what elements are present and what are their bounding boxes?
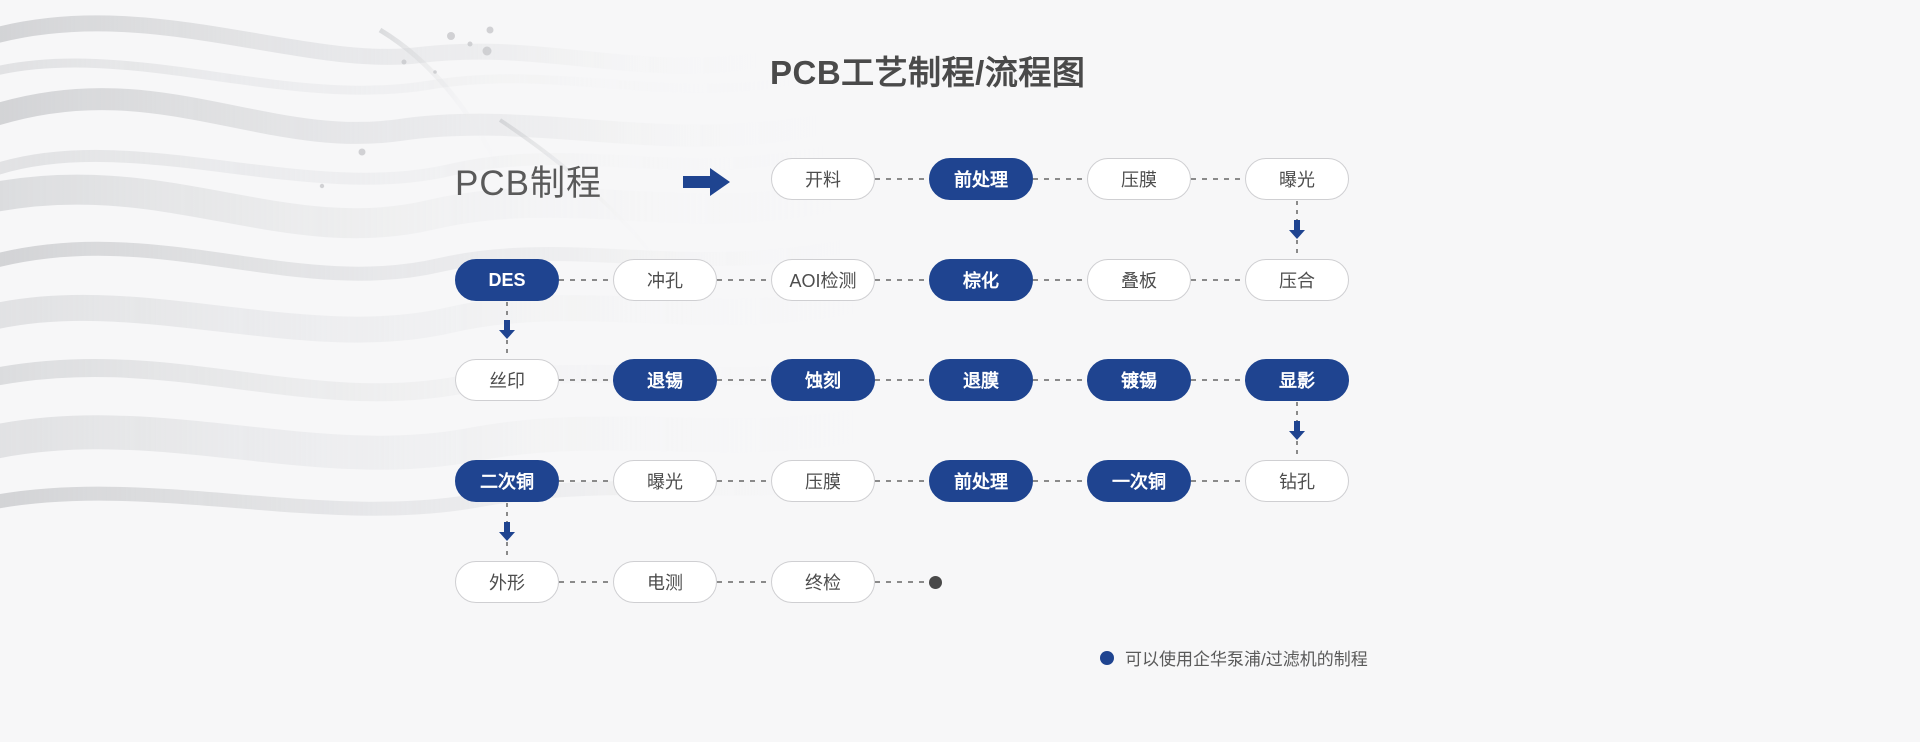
dotted-connector [875, 178, 929, 180]
flow-row: 丝印退锡蚀刻退膜镀锡显影 [455, 358, 1349, 402]
flow-node[interactable]: 一次铜 [1087, 460, 1191, 502]
flow-node[interactable]: 冲孔 [613, 259, 717, 301]
dotted-connector [1191, 178, 1245, 180]
arrow-down-icon [1288, 220, 1306, 240]
vertical-connector [1286, 201, 1308, 258]
flow-node[interactable]: 蚀刻 [771, 359, 875, 401]
dotted-connector [1033, 379, 1087, 381]
flow-node[interactable]: 退膜 [929, 359, 1033, 401]
flow-node[interactable]: 棕化 [929, 259, 1033, 301]
flow-node[interactable]: DES [455, 259, 559, 301]
dotted-connector [506, 542, 508, 561]
dotted-connector [717, 279, 771, 281]
flow-node[interactable]: 电测 [613, 561, 717, 603]
flow-end-dot [929, 576, 942, 589]
flow-node[interactable]: AOI检测 [771, 259, 875, 301]
vertical-connector [496, 503, 518, 560]
dotted-connector [506, 340, 508, 358]
legend-label: 可以使用企华泵浦/过滤机的制程 [1125, 645, 1368, 670]
flow-node[interactable]: 压膜 [771, 460, 875, 502]
dotted-connector [717, 581, 771, 583]
dotted-connector [1033, 178, 1087, 180]
dotted-connector [875, 480, 929, 482]
dotted-connector [1296, 402, 1298, 421]
vertical-connector [1286, 402, 1308, 459]
arrow-down-icon [498, 522, 516, 542]
flow-node[interactable]: 钻孔 [1245, 460, 1349, 502]
flow-node[interactable]: 退锡 [613, 359, 717, 401]
flow-node[interactable]: 叠板 [1087, 259, 1191, 301]
dotted-connector [875, 379, 929, 381]
flow-node[interactable]: 压膜 [1087, 158, 1191, 200]
dotted-connector [1296, 240, 1298, 259]
flow-node[interactable]: 曝光 [1245, 158, 1349, 200]
flow-row: 开料前处理压膜曝光 [771, 157, 1349, 201]
filled-circle-icon [1100, 651, 1114, 665]
dotted-connector [506, 503, 508, 522]
flow-node[interactable]: 显影 [1245, 359, 1349, 401]
flow-node[interactable]: 丝印 [455, 359, 559, 401]
arrow-down-icon [1288, 421, 1306, 441]
dotted-connector [1296, 441, 1298, 460]
flow-node[interactable]: 二次铜 [455, 460, 559, 502]
dotted-connector [717, 480, 771, 482]
flow-row: DES冲孔AOI检测棕化叠板压合 [455, 258, 1349, 302]
flow-row: 二次铜曝光压膜前处理一次铜钻孔 [455, 459, 1349, 503]
dotted-connector [506, 302, 508, 320]
flow-node[interactable]: 前处理 [929, 460, 1033, 502]
flow-node[interactable]: 开料 [771, 158, 875, 200]
dotted-connector [1033, 480, 1087, 482]
flow-node[interactable]: 外形 [455, 561, 559, 603]
dotted-connector [1191, 480, 1245, 482]
dotted-connector [1191, 379, 1245, 381]
dotted-connector [559, 279, 613, 281]
dotted-connector [717, 379, 771, 381]
flow-node[interactable]: 曝光 [613, 460, 717, 502]
vertical-connector [496, 302, 518, 358]
flow-row: 外形电测终检 [455, 560, 942, 604]
dotted-connector [559, 480, 613, 482]
dotted-connector [559, 581, 613, 583]
dotted-connector [1296, 201, 1298, 220]
dotted-connector [559, 379, 613, 381]
arrow-right-icon [683, 167, 731, 197]
flow-node[interactable]: 前处理 [929, 158, 1033, 200]
flow-node[interactable]: 终检 [771, 561, 875, 603]
flow-node[interactable]: 镀锡 [1087, 359, 1191, 401]
section-label: PCB制程 [455, 155, 602, 206]
page-title: PCB工艺制程/流程图 [770, 46, 1085, 94]
arrow-down-icon [498, 320, 516, 340]
dotted-connector [875, 581, 929, 583]
dotted-connector [1191, 279, 1245, 281]
dotted-connector [1033, 279, 1087, 281]
dotted-connector [875, 279, 929, 281]
legend: 可以使用企华泵浦/过滤机的制程 [1100, 645, 1368, 670]
flow-node[interactable]: 压合 [1245, 259, 1349, 301]
